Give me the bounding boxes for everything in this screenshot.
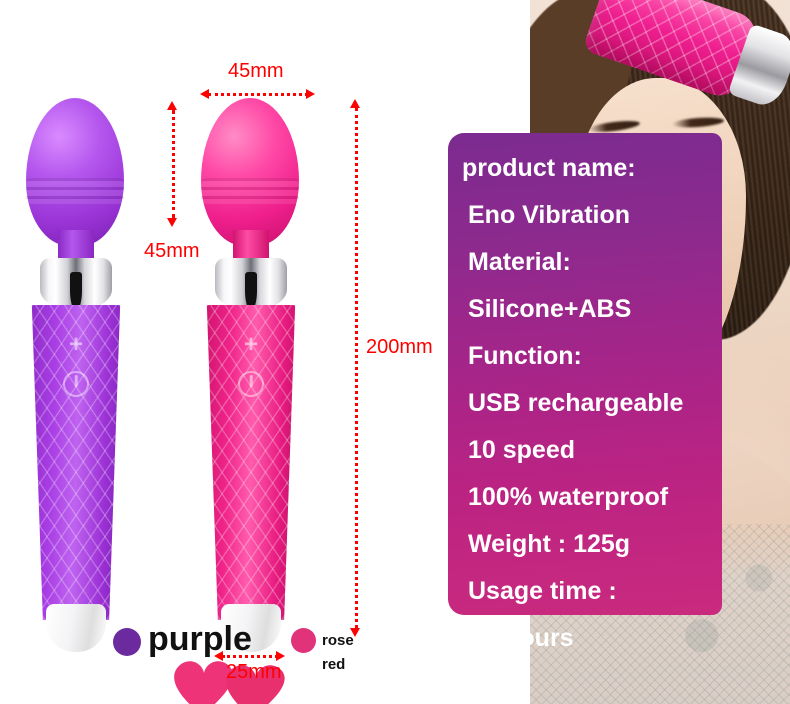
product-listing-image: product name: Eno Vibration Material: Si… [0, 0, 790, 704]
dimension-arrow-head-height-top [167, 101, 177, 110]
spec-line-material-value: Silicone+ABS [462, 286, 722, 333]
plus-button-icon: + [244, 331, 258, 359]
dimension-arrow-head-width-left [200, 89, 209, 99]
dimension-arrow-base-width-right [276, 651, 285, 661]
dimension-line-head-height [172, 110, 175, 218]
swatch-label-purple: purple [148, 620, 252, 659]
dimension-arrow-head-width-right [306, 89, 315, 99]
purple-wand-head [26, 98, 124, 246]
power-button-icon [238, 371, 264, 397]
heart-shape-left [174, 661, 233, 704]
rose-red-wand: + [175, 0, 355, 704]
purple-wand-base-cap [46, 604, 106, 652]
dimension-line-total-length [355, 108, 358, 628]
dimension-label-base-width: 25mm [226, 661, 282, 684]
spec-line-usage-time-value: 1-2hours [462, 615, 722, 662]
swatch-dot-rose-red [291, 628, 316, 653]
product-spec-panel: product name: Eno Vibration Material: Si… [448, 133, 722, 615]
rose-red-wand-chrome-band [215, 258, 287, 310]
dimension-label-head-height: 45mm [144, 240, 200, 263]
dimension-arrow-head-height-bottom [167, 218, 177, 227]
spec-line-waterproof: 100% waterproof [462, 474, 722, 521]
rose-red-wand-head [201, 98, 299, 246]
dimension-arrow-total-length-top [350, 99, 360, 108]
purple-wand-body: + [30, 305, 122, 620]
rose-red-wand-body: + [205, 305, 297, 620]
dimension-label-total-length: 200mm [366, 336, 433, 359]
purple-wand: + [0, 0, 180, 704]
swatch-label-rose-red-line1: rose [322, 628, 354, 653]
dimension-line-head-width [208, 93, 308, 96]
swatch-label-rose-red-line2: red [322, 652, 345, 677]
spec-line-product-name-label: product name: [462, 145, 722, 192]
rose-red-wand-head-rings [201, 178, 299, 204]
purple-wand-chrome-band [40, 258, 112, 310]
purple-wand-head-rings [26, 178, 124, 204]
plus-button-icon: + [69, 331, 83, 359]
spec-line-function-label: Function: [462, 333, 722, 380]
spec-line-product-name-value: Eno Vibration [462, 192, 722, 239]
spec-line-material-label: Material: [462, 239, 722, 286]
power-button-icon [63, 371, 89, 397]
dimension-label-head-width: 45mm [228, 60, 284, 83]
spec-line-usage-time-label: Usage time : [462, 568, 722, 615]
spec-line-function-speed: 10 speed [462, 427, 722, 474]
spec-line-function-usb: USB rechargeable [462, 380, 722, 427]
spec-line-weight: Weight : 125g [462, 521, 722, 568]
swatch-dot-purple [113, 628, 141, 656]
